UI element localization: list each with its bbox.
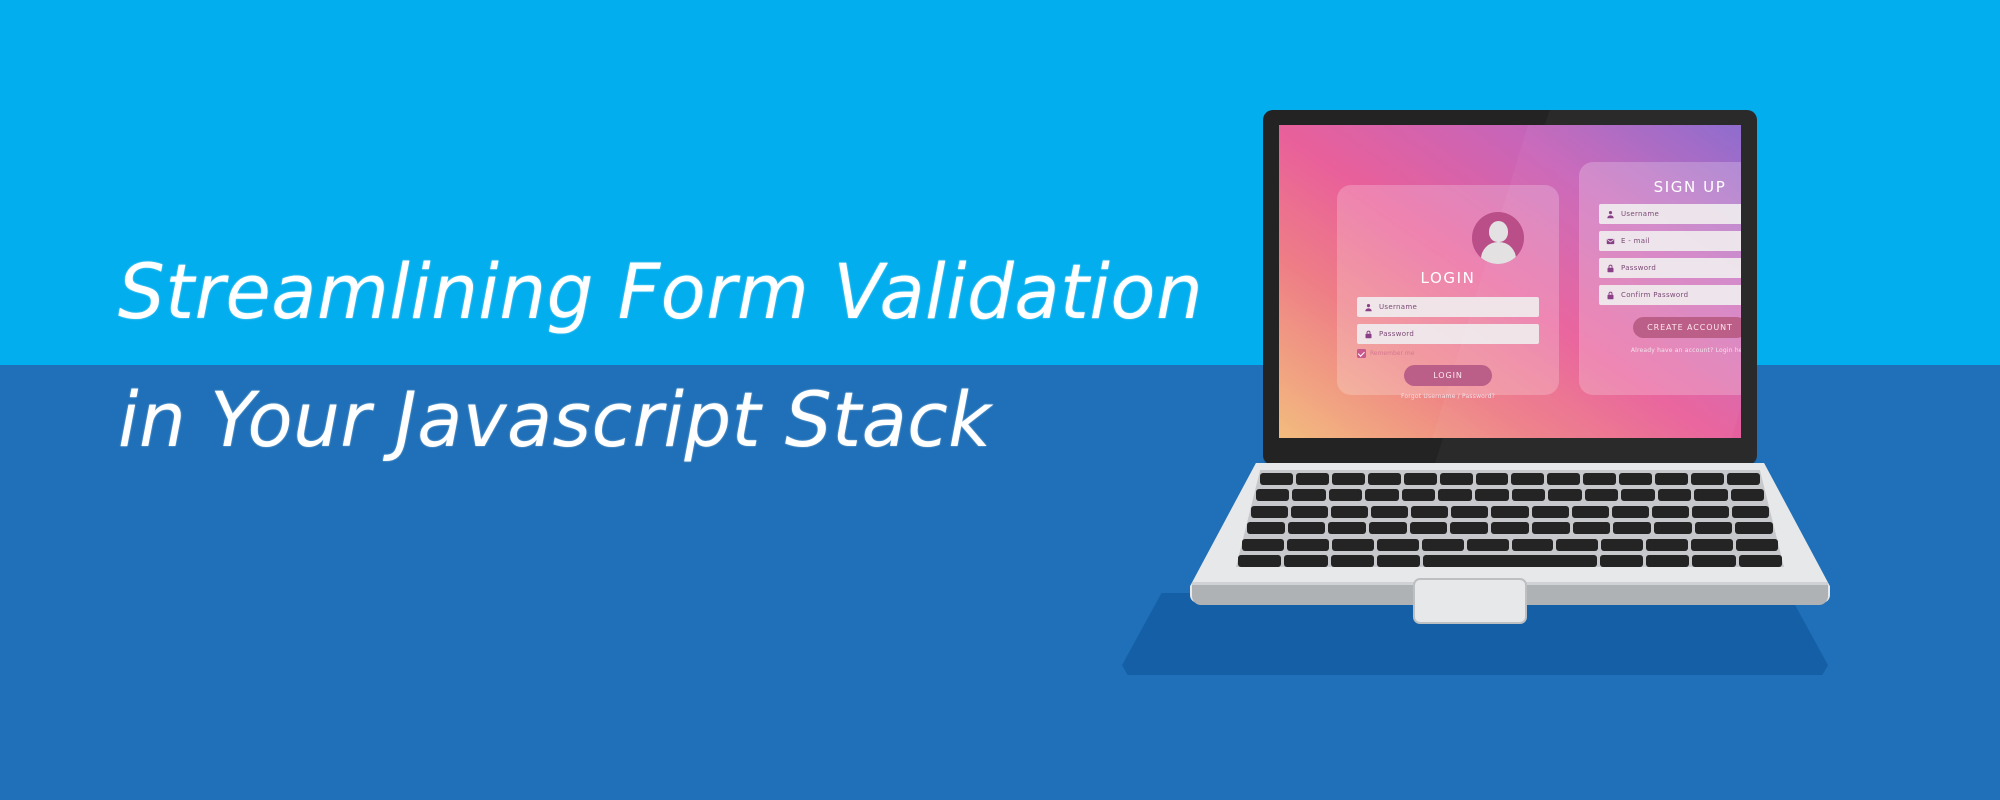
keyboard-key[interactable] — [1600, 555, 1643, 567]
keyboard-key[interactable] — [1331, 555, 1374, 567]
keyboard-key[interactable] — [1573, 522, 1611, 534]
keyboard-key[interactable] — [1532, 522, 1570, 534]
keyboard-key[interactable] — [1532, 506, 1569, 518]
keyboard-key[interactable] — [1331, 506, 1368, 518]
keyboard-key[interactable] — [1377, 555, 1420, 567]
signup-username-placeholder: Username — [1621, 210, 1659, 218]
keyboard-key[interactable] — [1440, 473, 1473, 485]
login-button[interactable]: LOGIN — [1404, 365, 1492, 386]
keyboard-key[interactable] — [1365, 489, 1399, 501]
keyboard-key[interactable] — [1556, 539, 1598, 551]
signup-email-placeholder: E - mail — [1621, 237, 1650, 245]
keyboard-key[interactable] — [1731, 489, 1765, 501]
remember-me-label: Remember me — [1370, 350, 1414, 357]
keyboard-key[interactable] — [1512, 539, 1554, 551]
login-username-field[interactable]: Username — [1357, 297, 1539, 317]
lock-icon — [1599, 291, 1621, 300]
keyboard-key[interactable] — [1491, 522, 1529, 534]
signup-card: SIGN UP Username E - mail — [1579, 162, 1741, 395]
keyboard-key[interactable] — [1735, 522, 1773, 534]
keyboard-key[interactable] — [1256, 489, 1290, 501]
keyboard-key[interactable] — [1694, 489, 1728, 501]
banner-stage: Streamlining Form Validation in Your Jav… — [0, 0, 2000, 800]
keyboard-key[interactable] — [1601, 539, 1643, 551]
keyboard-key[interactable] — [1329, 489, 1363, 501]
keyboard-key[interactable] — [1291, 506, 1328, 518]
keyboard-key[interactable] — [1727, 473, 1760, 485]
keyboard-key[interactable] — [1251, 506, 1288, 518]
laptop-screen: LOGIN Username Password — [1279, 125, 1741, 438]
keyboard-key[interactable] — [1287, 539, 1329, 551]
login-password-placeholder: Password — [1379, 330, 1414, 338]
keyboard-key[interactable] — [1583, 473, 1616, 485]
keyboard-key[interactable] — [1423, 555, 1596, 567]
keyboard-key[interactable] — [1467, 539, 1509, 551]
keyboard-key[interactable] — [1332, 473, 1365, 485]
keyboard-key[interactable] — [1371, 506, 1408, 518]
keyboard-key[interactable] — [1292, 489, 1326, 501]
keyboard-key[interactable] — [1284, 555, 1327, 567]
forgot-credentials-link[interactable]: Forgot Username / Password? — [1337, 393, 1559, 400]
keyboard-key[interactable] — [1242, 539, 1284, 551]
avatar-body-shape — [1481, 242, 1516, 264]
keyboard-key[interactable] — [1411, 506, 1448, 518]
keyboard-key[interactable] — [1695, 522, 1733, 534]
keyboard-key[interactable] — [1238, 555, 1281, 567]
keyboard-row — [1260, 473, 1760, 485]
login-password-field[interactable]: Password — [1357, 324, 1539, 344]
login-username-placeholder: Username — [1379, 303, 1417, 311]
lock-icon — [1357, 330, 1379, 339]
keyboard-key[interactable] — [1247, 522, 1285, 534]
keyboard-key[interactable] — [1451, 506, 1488, 518]
keyboard-key[interactable] — [1621, 489, 1655, 501]
login-title: LOGIN — [1337, 269, 1559, 287]
keyboard-key[interactable] — [1450, 522, 1488, 534]
check-icon — [1357, 349, 1364, 356]
keyboard-key[interactable] — [1476, 473, 1509, 485]
keyboard-key[interactable] — [1691, 473, 1724, 485]
keyboard-key[interactable] — [1732, 506, 1769, 518]
keyboard-key[interactable] — [1613, 522, 1651, 534]
remember-me-checkbox[interactable]: Remember me — [1357, 349, 1414, 358]
lock-icon — [1599, 264, 1621, 273]
keyboard-key[interactable] — [1511, 473, 1544, 485]
keyboard-row — [1238, 555, 1782, 567]
keyboard-key[interactable] — [1739, 555, 1782, 567]
keyboard-key[interactable] — [1410, 522, 1448, 534]
keyboard-row — [1247, 522, 1773, 534]
keyboard-key[interactable] — [1585, 489, 1619, 501]
keyboard-key[interactable] — [1332, 539, 1374, 551]
keyboard-row — [1251, 506, 1769, 518]
checkbox-box — [1357, 349, 1366, 358]
keyboard-row — [1242, 539, 1777, 551]
login-card: LOGIN Username Password — [1337, 185, 1559, 395]
keyboard-key[interactable] — [1612, 506, 1649, 518]
laptop-lid: LOGIN Username Password — [1263, 110, 1757, 465]
keyboard-key[interactable] — [1491, 506, 1528, 518]
headline-line-1: Streamlining Form Validation — [118, 228, 1204, 356]
keyboard-key[interactable] — [1658, 489, 1692, 501]
keyboard-key[interactable] — [1475, 489, 1509, 501]
person-icon — [1599, 210, 1621, 219]
person-icon — [1357, 303, 1379, 312]
signup-email-field[interactable]: E - mail — [1599, 231, 1741, 251]
keyboard-key[interactable] — [1548, 489, 1582, 501]
headline: Streamlining Form Validation in Your Jav… — [118, 228, 1238, 484]
envelope-icon — [1599, 237, 1621, 246]
keyboard-key[interactable] — [1654, 522, 1692, 534]
create-account-button[interactable]: CREATE ACCOUNT — [1633, 317, 1741, 338]
signup-title: SIGN UP — [1579, 178, 1741, 196]
keyboard-key[interactable] — [1646, 555, 1689, 567]
keyboard-key[interactable] — [1422, 539, 1464, 551]
keyboard-key[interactable] — [1328, 522, 1366, 534]
keyboard[interactable] — [1238, 473, 1782, 565]
avatar-head-shape — [1489, 221, 1508, 242]
keyboard-key[interactable] — [1655, 473, 1688, 485]
keyboard-key[interactable] — [1402, 489, 1436, 501]
keyboard-key[interactable] — [1404, 473, 1437, 485]
keyboard-key[interactable] — [1438, 489, 1472, 501]
signup-confirm-password-field[interactable]: Confirm Password — [1599, 285, 1741, 305]
keyboard-key[interactable] — [1652, 506, 1689, 518]
keyboard-key[interactable] — [1296, 473, 1329, 485]
keyboard-key[interactable] — [1692, 555, 1735, 567]
keyboard-key[interactable] — [1547, 473, 1580, 485]
keyboard-key[interactable] — [1368, 473, 1401, 485]
keyboard-key[interactable] — [1692, 506, 1729, 518]
signup-password-placeholder: Password — [1621, 264, 1656, 272]
keyboard-key[interactable] — [1691, 539, 1733, 551]
keyboard-row — [1256, 489, 1765, 501]
keyboard-key[interactable] — [1369, 522, 1407, 534]
keyboard-key[interactable] — [1377, 539, 1419, 551]
trackpad[interactable] — [1413, 578, 1527, 624]
laptop-illustration: LOGIN Username Password — [1160, 110, 1860, 670]
user-avatar-icon — [1472, 212, 1524, 264]
keyboard-key[interactable] — [1736, 539, 1778, 551]
already-have-account-link[interactable]: Already have an account? Login here — [1579, 347, 1741, 354]
keyboard-key[interactable] — [1288, 522, 1326, 534]
headline-line-2: in Your Javascript Stack — [118, 356, 1204, 484]
keyboard-key[interactable] — [1572, 506, 1609, 518]
keyboard-key[interactable] — [1646, 539, 1688, 551]
signup-password-field[interactable]: Password — [1599, 258, 1741, 278]
signup-confirm-password-placeholder: Confirm Password — [1621, 291, 1688, 299]
keyboard-key[interactable] — [1619, 473, 1652, 485]
keyboard-key[interactable] — [1512, 489, 1546, 501]
keyboard-key[interactable] — [1260, 473, 1293, 485]
signup-username-field[interactable]: Username — [1599, 204, 1741, 224]
